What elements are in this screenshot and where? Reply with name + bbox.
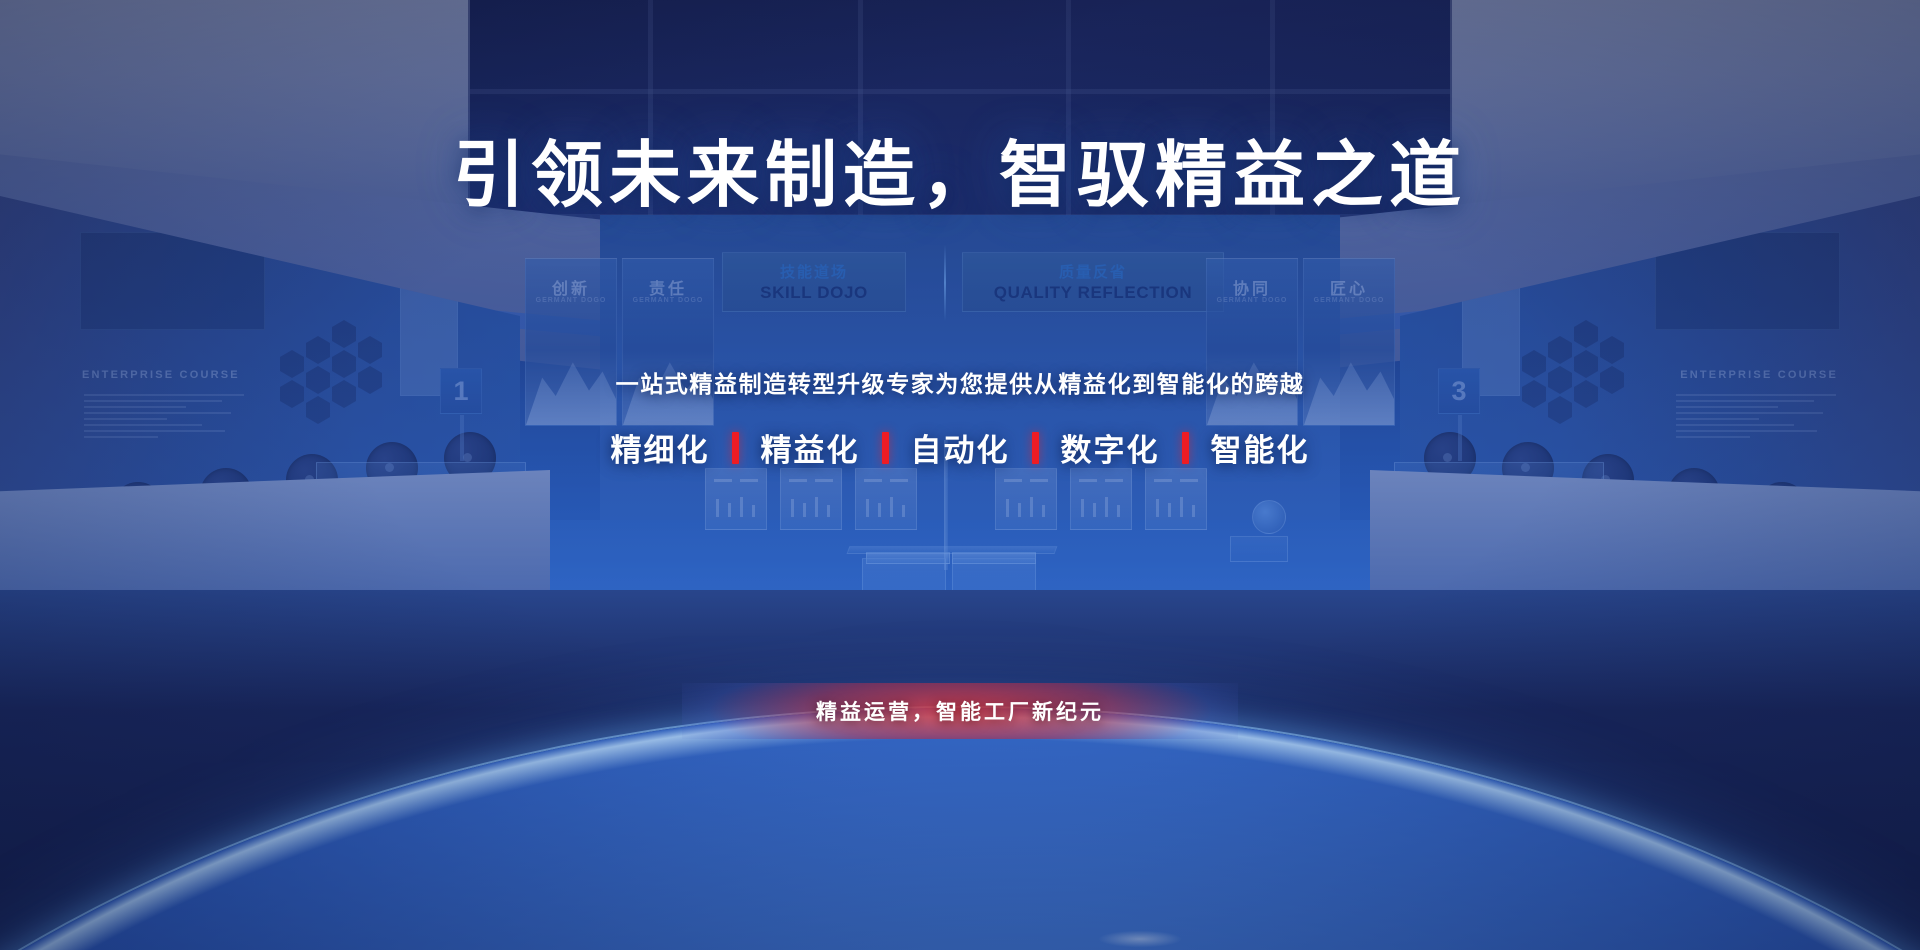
hero-keyword-row: 精细化 精益化 自动化 数字化 智能化 bbox=[0, 425, 1920, 470]
hero-headline: 引领未来制造，智驭精益之道 bbox=[0, 138, 1920, 214]
bottom-tagline-text: 精益运营，智能工厂新纪元 bbox=[816, 696, 1104, 726]
keyword-2: 精益化 bbox=[761, 425, 860, 470]
hero-banner: 技能道场 SKILL DOJO 质量反省 QUALITY REFLECTION … bbox=[0, 0, 1920, 950]
keyword-separator-icon bbox=[1032, 432, 1039, 464]
hero-subline: 一站式精益制造转型升级专家为您提供从精益化到智能化的跨越 bbox=[0, 365, 1920, 399]
keyword-3: 自动化 bbox=[911, 425, 1010, 470]
keyword-separator-icon bbox=[882, 432, 889, 464]
hero-content: 引领未来制造，智驭精益之道 一站式精益制造转型升级专家为您提供从精益化到智能化的… bbox=[0, 0, 1920, 950]
bottom-tagline-banner: 精益运营，智能工厂新纪元 bbox=[682, 683, 1238, 739]
keyword-4: 数字化 bbox=[1061, 425, 1160, 470]
keyword-separator-icon bbox=[732, 432, 739, 464]
keyword-1: 精细化 bbox=[611, 425, 710, 470]
keyword-separator-icon bbox=[1182, 432, 1189, 464]
keyword-5: 智能化 bbox=[1211, 425, 1310, 470]
